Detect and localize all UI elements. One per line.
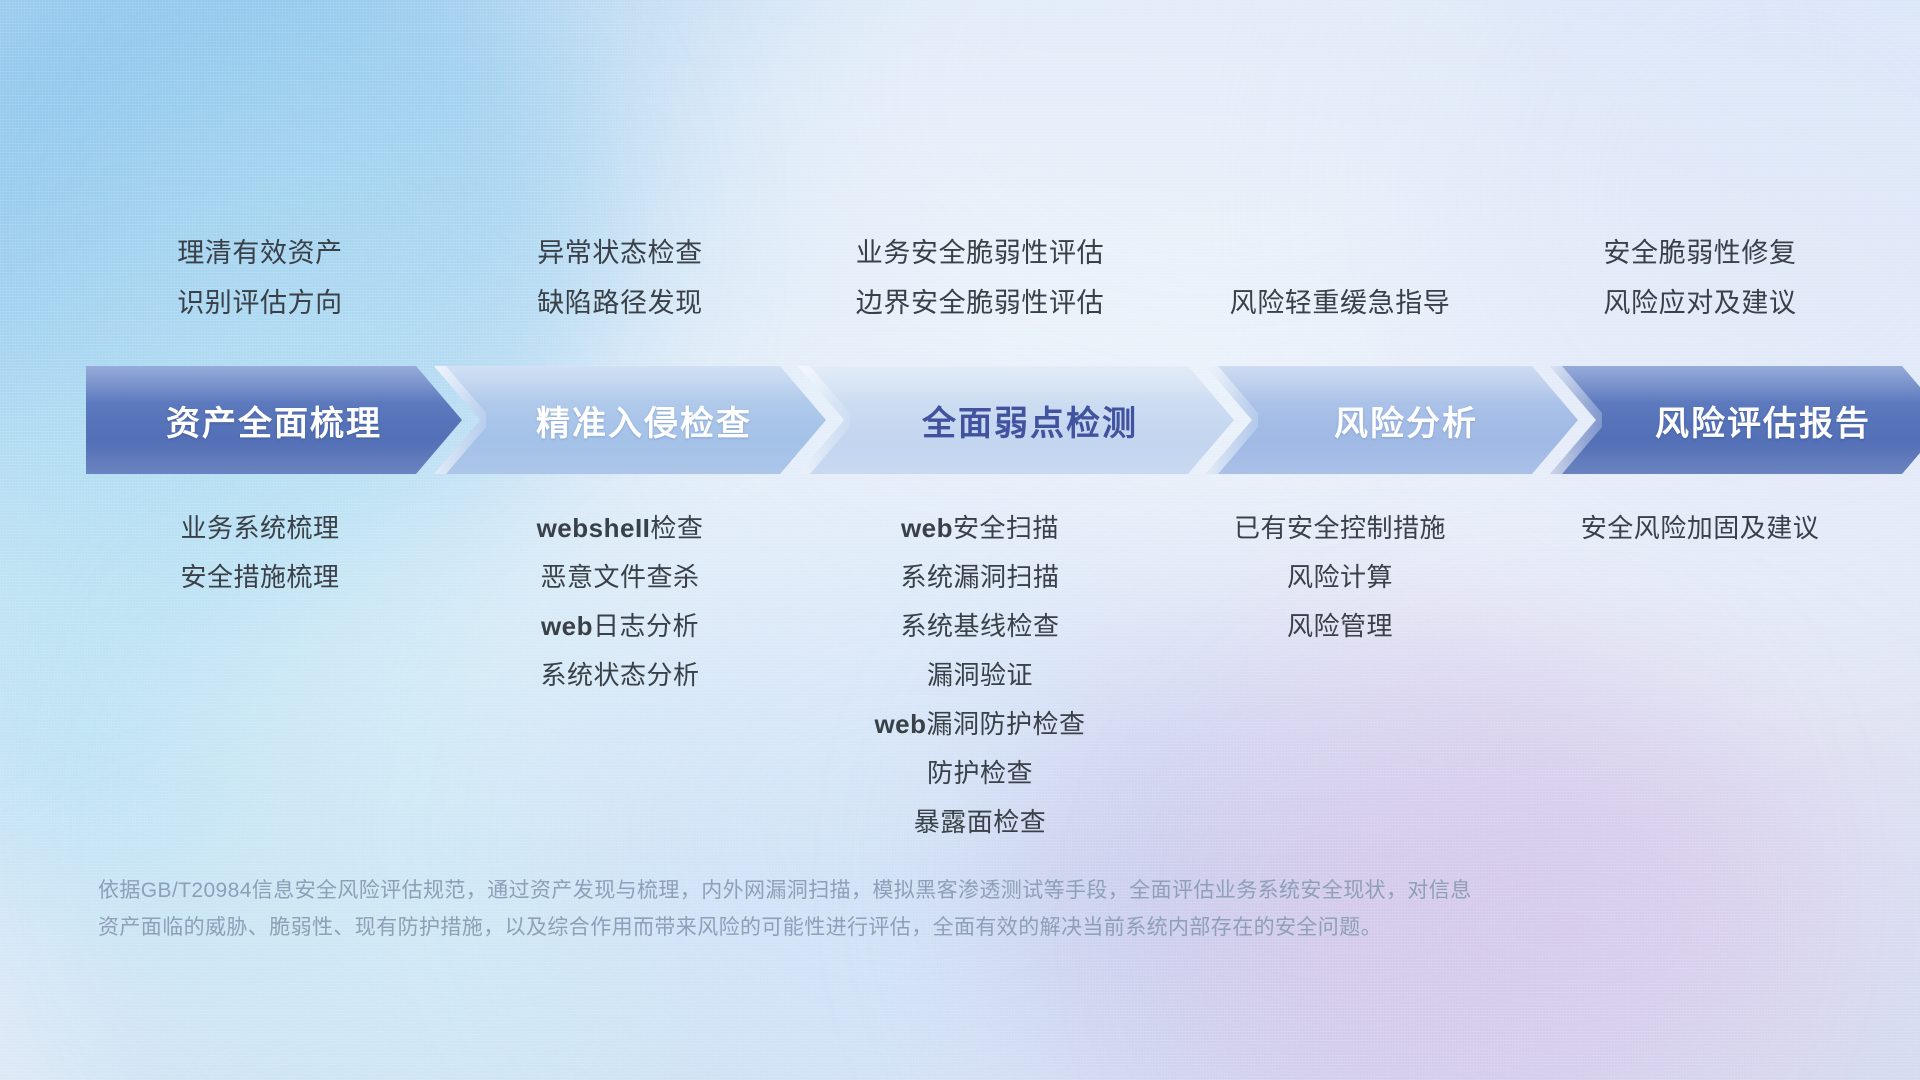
- stage-top-item: 边界安全脆弱性评估: [806, 278, 1154, 328]
- stage-top-item: 缺陷路径发现: [446, 278, 794, 328]
- stage-bottom-item: 安全措施梳理: [86, 553, 434, 602]
- stage-top-labels: 理清有效资产 识别评估方向 异常状态检查 缺陷路径发现 业务安全脆弱性评估 边界…: [80, 228, 1880, 328]
- stage-chevron-intrusion-check[interactable]: 精准入侵检查: [434, 366, 826, 474]
- stage-top-column-weakness-detection: 业务安全脆弱性评估 边界安全脆弱性评估: [800, 228, 1160, 328]
- stage-bottom-item: 业务系统梳理: [86, 504, 434, 553]
- stage-top-item: 安全脆弱性修复: [1526, 228, 1874, 278]
- footer-line: 资产面临的威胁、脆弱性、现有防护措施，以及综合作用而带来风险的可能性进行评估，全…: [98, 909, 1718, 946]
- stage-bottom-item: 防护检查: [806, 749, 1154, 798]
- stage-bottom-column-weakness-detection: web安全扫描系统漏洞扫描系统基线检查漏洞验证web漏洞防护检查防护检查暴露面检…: [800, 504, 1160, 847]
- stage-top-column-risk-report: 安全脆弱性修复 风险应对及建议: [1520, 228, 1880, 328]
- stage-bottom-item: web日志分析: [446, 602, 794, 651]
- stage-top-item: 异常状态检查: [446, 228, 794, 278]
- stage-chevron-band: 资产全面梳理 精准入侵检查 全面弱点检测 风险分析 风险评估报告: [86, 366, 1848, 474]
- stage-chevron-asset-inventory[interactable]: 资产全面梳理: [86, 366, 462, 474]
- stage-top-column-risk-analysis: 风险轻重缓急指导: [1160, 228, 1520, 328]
- stage-bottom-item: 系统状态分析: [446, 651, 794, 700]
- stage-bottom-item: web漏洞防护检查: [806, 700, 1154, 749]
- stage-chevron-risk-report[interactable]: 风险评估报告: [1550, 366, 1920, 474]
- stage-bottom-item: 风险计算: [1166, 553, 1514, 602]
- stage-bottom-item: websheII检查: [446, 504, 794, 553]
- stage-bottom-column-intrusion-check: websheII检查恶意文件查杀web日志分析系统状态分析: [440, 504, 800, 700]
- stage-bottom-column-risk-report: 安全风险加固及建议: [1520, 504, 1880, 553]
- process-flow-diagram: 理清有效资产 识别评估方向 异常状态检查 缺陷路径发现 业务安全脆弱性评估 边界…: [0, 0, 1920, 1080]
- stage-title: 风险分析: [1306, 396, 1478, 445]
- stage-top-item: 风险轻重缓急指导: [1166, 278, 1514, 328]
- stage-title: 资产全面梳理: [166, 396, 382, 445]
- stage-bottom-item: web安全扫描: [806, 504, 1154, 553]
- stage-top-column-asset-inventory: 理清有效资产 识别评估方向: [80, 228, 440, 328]
- stage-bottom-item: 暴露面检查: [806, 798, 1154, 847]
- stage-top-item: 业务安全脆弱性评估: [806, 228, 1154, 278]
- stage-title: 全面弱点检测: [894, 396, 1138, 445]
- stage-bottom-column-risk-analysis: 已有安全控制措施风险计算风险管理: [1160, 504, 1520, 651]
- stage-top-item: 识别评估方向: [86, 278, 434, 328]
- stage-top-item: 理清有效资产: [86, 228, 434, 278]
- footer-line: 依据GB/T20984信息安全风险评估规范，通过资产发现与梳理，内外网漏洞扫描，…: [98, 872, 1718, 909]
- stage-chevron-weakness-detection[interactable]: 全面弱点检测: [798, 366, 1234, 474]
- stage-bottom-item: 已有安全控制措施: [1166, 504, 1514, 553]
- stage-chevron-risk-analysis[interactable]: 风险分析: [1206, 366, 1578, 474]
- footer-description: 依据GB/T20984信息安全风险评估规范，通过资产发现与梳理，内外网漏洞扫描，…: [98, 872, 1718, 946]
- stage-bottom-column-asset-inventory: 业务系统梳理安全措施梳理: [80, 504, 440, 602]
- stage-top-column-intrusion-check: 异常状态检查 缺陷路径发现: [440, 228, 800, 328]
- stage-bottom-item: 安全风险加固及建议: [1526, 504, 1874, 553]
- stage-bottom-item: 恶意文件查杀: [446, 553, 794, 602]
- stage-bottom-item: 风险管理: [1166, 602, 1514, 651]
- stage-bottom-item: 系统漏洞扫描: [806, 553, 1154, 602]
- stage-top-item: 风险应对及建议: [1526, 278, 1874, 328]
- stage-bottom-item: 漏洞验证: [806, 651, 1154, 700]
- stage-bottom-lists: 业务系统梳理安全措施梳理 websheII检查恶意文件查杀web日志分析系统状态…: [80, 504, 1880, 847]
- stage-title: 风险评估报告: [1627, 396, 1871, 445]
- stage-title: 精准入侵检查: [508, 396, 752, 445]
- stage-bottom-item: 系统基线检查: [806, 602, 1154, 651]
